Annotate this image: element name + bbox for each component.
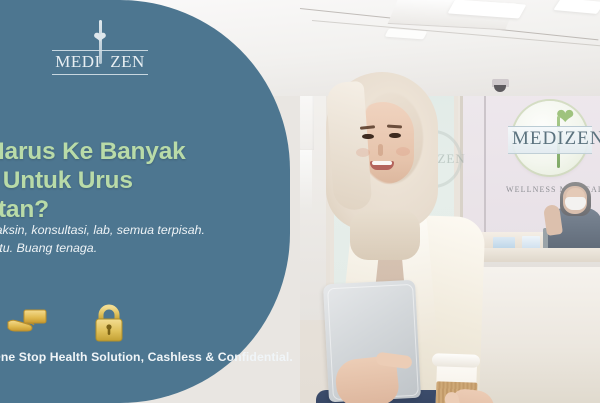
brand-wordmark-zen: ZEN xyxy=(110,52,145,71)
coffee-cup-lid xyxy=(432,353,480,368)
eye-left xyxy=(362,134,374,139)
subheadline: Medical check, vaksin, konsultasi, lab, … xyxy=(0,222,224,258)
woman-subject xyxy=(300,60,520,403)
brand-logo: ❤ MEDI..ZEN xyxy=(52,30,148,75)
hand-cashless-payment-icon xyxy=(4,300,50,344)
cheek-right xyxy=(396,147,410,156)
promo-banner: MEDIZEN ❤ MEDIZEN WELLNESS MEDICAL CENTE… xyxy=(0,0,600,403)
caduceus-staff-icon xyxy=(99,20,102,64)
feature-icon-row xyxy=(0,300,152,344)
padlock-confidential-icon xyxy=(86,300,132,344)
eye-right xyxy=(389,133,401,138)
nose xyxy=(378,144,383,156)
receptionist-face-mask xyxy=(565,197,586,210)
brand-wordmark-medi: MEDI xyxy=(55,52,100,71)
blue-content-panel: ❤ MEDI..ZEN Masih Harus Ke Banyak Tempat… xyxy=(0,0,290,403)
wall-logo-text: MEDIZEN xyxy=(512,128,600,150)
tagline: MediZen have One Stop Health Solution, C… xyxy=(0,350,226,364)
headline: Masih Harus Ke Banyak Tempat Untuk Urus … xyxy=(0,138,232,225)
cheek-left xyxy=(356,148,370,157)
neck-scarf xyxy=(350,210,420,260)
subheadline-line-2: Buang waktu. Buang tenaga. xyxy=(0,240,224,258)
teeth xyxy=(372,161,392,165)
subheadline-line-1: Medical check, vaksin, konsultasi, lab, … xyxy=(0,223,205,237)
